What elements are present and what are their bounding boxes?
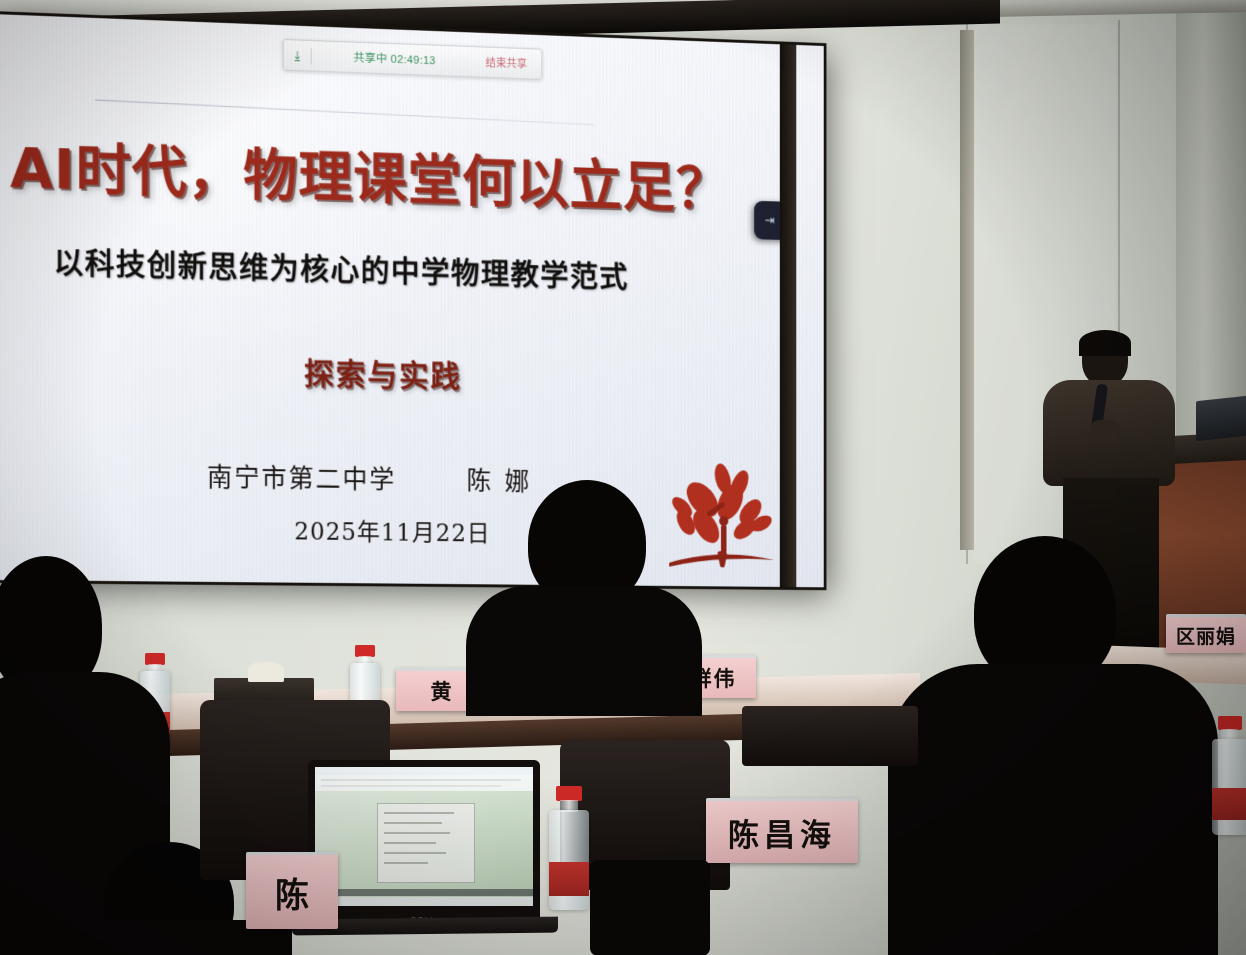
download-icon[interactable]: ⤓ <box>284 48 311 62</box>
screen-share-toolbar[interactable]: ⤓ 共享中 02:49:13 结束共享 <box>283 39 542 80</box>
slide-subtitle: 以科技创新思维为核心的中学物理教学范式 <box>54 238 723 298</box>
end-share-button[interactable]: 结束共享 <box>477 51 536 75</box>
foreground-object <box>590 860 710 955</box>
slide-date: 2025年11月22日 <box>294 512 490 549</box>
presenter-hands <box>1090 420 1120 444</box>
wall-divider <box>960 30 974 550</box>
conference-room-photo: ⤓ 共享中 02:49:13 结束共享 AI时代，物理课堂何以立足？ 以科技创新… <box>0 0 1246 955</box>
red-tree-logo <box>665 462 776 571</box>
tissue-sheet <box>248 662 284 682</box>
table-surface-front <box>742 706 918 766</box>
laptop-titlebar <box>315 767 533 775</box>
podium-laptop <box>1196 395 1246 441</box>
laptop-dialog <box>377 803 475 883</box>
laptop-taskbar <box>315 897 533 906</box>
name-placard: 区丽娟 <box>1166 614 1246 653</box>
name-placard: 陈 <box>246 852 338 929</box>
name-placard: 陈昌海 <box>706 798 858 863</box>
presenter-hair <box>1079 330 1131 356</box>
share-status-label: 共享中 02:49:13 <box>312 48 477 70</box>
attendee-laptop[interactable]: DELL <box>308 760 540 928</box>
laptop-lid: DELL <box>308 760 540 928</box>
slide-title: AI时代，物理课堂何以立足？ <box>10 123 765 225</box>
laptop-display <box>315 767 533 906</box>
screen-bezel <box>780 44 796 587</box>
projection-screen: ⤓ 共享中 02:49:13 结束共享 AI时代，物理课堂何以立足？ 以科技创新… <box>0 14 824 587</box>
slide-theme: 探索与实践 <box>304 349 462 396</box>
slide-divider-line <box>95 99 594 125</box>
slide-school-name: 南宁市第二中学 <box>207 457 396 496</box>
slide-presenter-name: 陈 娜 <box>467 461 532 498</box>
laptop-ribbon <box>315 775 533 791</box>
